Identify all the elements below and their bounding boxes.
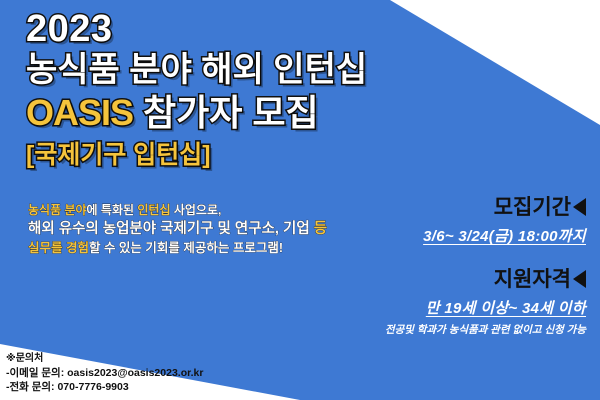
description-line-3: 실무를 경험할 수 있는 기회를 제공하는 프로그램! xyxy=(28,240,388,258)
contact-phone: -전화 문의: 070-7776-9903 xyxy=(6,380,203,394)
eligibility-group: 지원자격 만 19세 이상~ 34세 이하 전공및 학과가 농식품과 관련 없이… xyxy=(356,268,586,337)
description-line-3-highlight: 실무를 경험 xyxy=(28,241,89,255)
headline-year: 2023 xyxy=(26,10,456,50)
description-line-1-highlight: 농식품 분야 xyxy=(28,203,87,217)
triangle-left-icon xyxy=(573,198,586,216)
recruitment-period-heading: 모집기간 xyxy=(356,196,586,220)
headline-bracket: [국제기구 입턴십] xyxy=(26,139,456,172)
description-line-1: 농식품 분야에 특화된 인턴십 사업으로, xyxy=(28,202,388,219)
brand-wordmark: OASIS xyxy=(26,92,133,133)
recruitment-period-label: 모집기간 xyxy=(494,196,571,219)
eligibility-value: 만 19세 이상~ 34세 이하 xyxy=(356,297,586,318)
recruitment-period-group: 모집기간 3/6~ 3/24(금) 18:00까지 xyxy=(356,196,586,246)
contact-block: ※문의처 -이메일 문의: oasis2023@oasis2023.or.kr … xyxy=(6,352,203,394)
eligibility-note: 전공및 학과가 농식품과 관련 없이고 신청 가능 xyxy=(356,322,586,337)
description-line-2-tail: 등 xyxy=(310,221,327,237)
description-line-1-highlight-2: 인턴십 xyxy=(137,203,170,217)
headline-main: 농식품 분야 해외 인턴십 xyxy=(26,50,456,91)
brand-suffix: 참가자 모집 xyxy=(143,92,319,133)
info-panel: 모집기간 3/6~ 3/24(금) 18:00까지 지원자격 만 19세 이상~… xyxy=(356,196,586,337)
poster-canvas: 2023 농식품 분야 해외 인턴십 OASIS 참가자 모집 [국제기구 입턴… xyxy=(0,0,600,400)
eligibility-heading: 지원자격 xyxy=(356,268,586,292)
contact-title: ※문의처 xyxy=(6,352,203,366)
triangle-left-icon-2 xyxy=(573,270,586,288)
headline-block: 2023 농식품 분야 해외 인턴십 OASIS 참가자 모집 [국제기구 입턴… xyxy=(26,10,456,171)
eligibility-label: 지원자격 xyxy=(494,268,571,291)
description-line-3-tail: 할 수 있는 기회를 제공하는 프로그램! xyxy=(89,241,283,255)
contact-email: -이메일 문의: oasis2023@oasis2023.or.kr xyxy=(6,366,203,380)
description-line-1-tail: 사업으로, xyxy=(171,203,222,217)
headline-brand-line: OASIS 참가자 모집 xyxy=(26,91,456,134)
description-line-2-main: 해외 유수의 농업분야 국제기구 및 연구소, 기업 xyxy=(28,221,310,237)
description-line-2: 해외 유수의 농업분야 국제기구 및 연구소, 기업 등 xyxy=(28,219,388,240)
description-block: 농식품 분야에 특화된 인턴십 사업으로, 해외 유수의 농업분야 국제기구 및… xyxy=(28,202,388,257)
description-line-1-mid: 에 특화된 xyxy=(87,203,138,217)
recruitment-period-value: 3/6~ 3/24(금) 18:00까지 xyxy=(356,225,586,246)
